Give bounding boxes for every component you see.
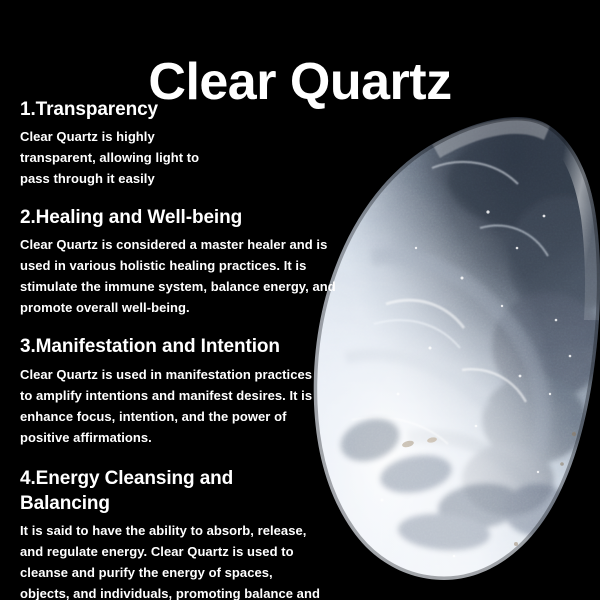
section-energy-cleansing-and-balancing: 4.Energy Cleansing and Balancing It is s… [20, 466, 360, 600]
section-healing-and-well-being: 2.Healing and Well-being Clear Quartz is… [20, 205, 360, 318]
infographic-canvas: Clear Quartz 1.Transparency Clear Quartz… [0, 0, 600, 600]
section-2-body: Clear Quartz is considered a master heal… [20, 234, 345, 318]
content-column: 1.Transparency Clear Quartz is highly tr… [20, 97, 360, 600]
section-3-body: Clear Quartz is used in manifestation pr… [20, 364, 320, 448]
section-2-heading: 2.Healing and Well-being [20, 205, 360, 230]
section-1-body: Clear Quartz is highly transparent, allo… [20, 126, 220, 189]
section-4-body: It is said to have the ability to absorb… [20, 520, 320, 600]
section-transparency: 1.Transparency Clear Quartz is highly tr… [20, 97, 360, 189]
section-4-heading: 4.Energy Cleansing and Balancing [20, 466, 270, 516]
section-3-heading: 3.Manifestation and Intention [20, 334, 360, 359]
section-manifestation-and-intention: 3.Manifestation and Intention Clear Quar… [20, 334, 360, 447]
section-1-heading: 1.Transparency [20, 97, 360, 122]
